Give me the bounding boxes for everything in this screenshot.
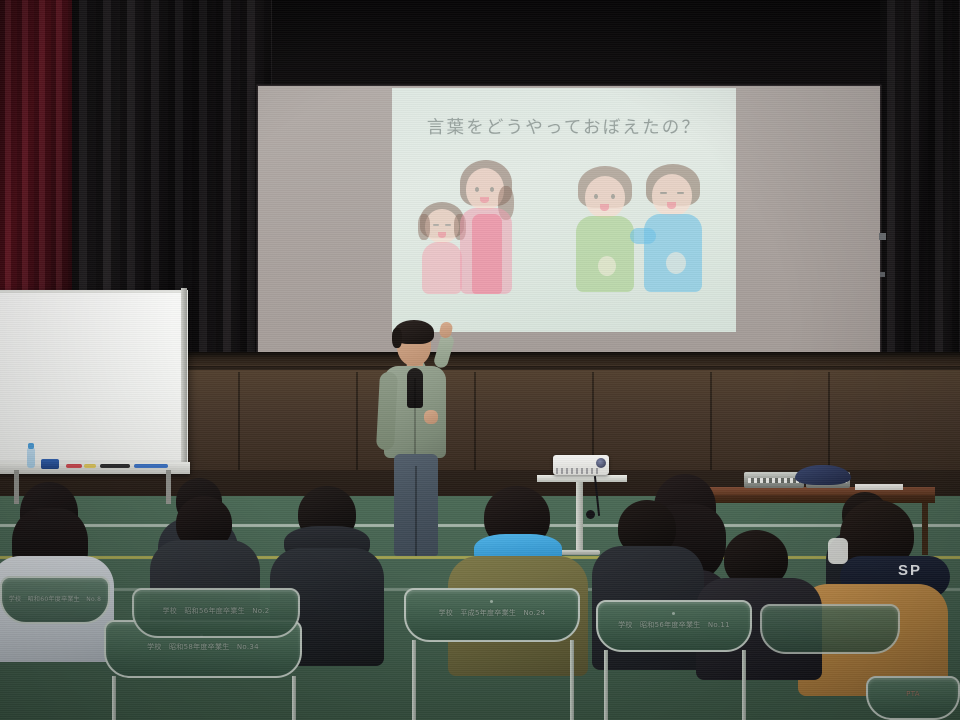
chair[interactable]: 学校 昭和56年度卒業生 No.11 <box>596 600 752 652</box>
audience-adult-tan-sweater: SP <box>806 500 956 696</box>
slide-figure-boy-green <box>574 166 636 292</box>
slide-title-text: 言葉をどうやっておぼえたの？ <box>392 114 736 139</box>
chair[interactable] <box>760 604 900 654</box>
projected-slide: 言葉をどうやっておぼえたの？ <box>392 88 736 332</box>
projector-lens <box>596 458 606 468</box>
blue-bag-on-table <box>795 465 851 485</box>
chair-rivet <box>672 612 675 615</box>
slide-illustration <box>392 150 736 300</box>
face-mask <box>828 538 848 564</box>
audio-mixer-controls-1 <box>748 478 800 483</box>
boy-green-eye-right <box>611 194 615 199</box>
mother-eye-right <box>490 187 494 192</box>
whiteboard <box>0 290 188 468</box>
presenter-hair-side <box>392 328 402 348</box>
chair-label: 学校 平成5年度卒業生 No.24 <box>404 608 580 618</box>
boy-blue-arm <box>630 228 656 244</box>
hoodie-lettering: SP <box>898 562 922 579</box>
boy-blue-head <box>652 174 692 216</box>
boy-green-eye-left <box>594 194 598 199</box>
boy-green-head <box>585 176 625 218</box>
mother-apron <box>472 214 502 294</box>
marker-red <box>66 464 82 468</box>
black-stage-curtain-right <box>880 0 960 400</box>
whiteboard-eraser <box>41 459 59 469</box>
girl-mouth <box>438 232 446 238</box>
audience-student-olive-hoodie <box>452 486 584 676</box>
boy-blue-eye-left <box>660 192 667 194</box>
chair[interactable]: PTA <box>866 676 960 720</box>
boy-blue-mouth <box>667 202 676 209</box>
marker-yellow <box>84 464 96 468</box>
chair-label: PTA <box>866 690 960 698</box>
girl-eye-right <box>445 224 451 226</box>
water-bottle <box>27 448 35 468</box>
boy-blue-eye-right <box>677 192 684 194</box>
mother-mouth <box>480 197 489 203</box>
water-bottle-cap <box>28 443 34 449</box>
chair-leg <box>112 676 116 720</box>
presenter-hand-left <box>424 410 438 424</box>
girl-eye-left <box>433 224 439 226</box>
chair[interactable]: 学校 昭和60年度卒業生 No.8 <box>0 576 110 624</box>
girl-hair-left <box>418 214 430 240</box>
chair-leg <box>570 640 574 720</box>
above-screen-band <box>250 0 890 86</box>
marker-black <box>100 464 130 468</box>
screen-bracket-lower <box>880 272 885 277</box>
boy-blue-hand <box>666 252 686 274</box>
chair-rivet <box>490 600 493 603</box>
chair[interactable]: 学校 平成5年度卒業生 No.24 <box>404 588 580 642</box>
presenter-forearm-right <box>433 333 456 370</box>
presenter-cardigan-placket <box>414 378 416 456</box>
projector-shelf <box>537 475 627 482</box>
boy-green-body <box>576 216 634 292</box>
chair-label: 学校 昭和60年度卒業生 No.8 <box>0 594 110 603</box>
screen-bracket-upper <box>879 233 886 240</box>
slide-figure-mother <box>454 160 518 294</box>
photo-scene: 言葉をどうやっておぼえたの？ <box>0 0 960 720</box>
papers-on-table <box>855 484 903 490</box>
whiteboard-frame-right <box>181 288 187 472</box>
chair-leg <box>292 676 296 720</box>
chair-leg <box>604 650 608 720</box>
chair-backrest[interactable] <box>866 676 960 720</box>
chair[interactable]: 学校 昭和56年度卒業生 No.2 <box>132 588 300 638</box>
boy-green-hand <box>598 256 616 276</box>
chair-leg <box>742 650 746 720</box>
mother-eye-left <box>475 187 479 192</box>
projection-screen: 言葉をどうやっておぼえたの？ <box>258 86 880 352</box>
marker-blue <box>134 464 168 468</box>
chair-leg <box>412 640 416 720</box>
slide-figure-boy-blue <box>640 164 706 292</box>
chair-backrest[interactable] <box>760 604 900 654</box>
projector-control-panel <box>556 468 600 474</box>
chair-label: 学校 昭和56年度卒業生 No.2 <box>132 606 300 616</box>
chair-label: 学校 昭和56年度卒業生 No.11 <box>596 620 752 630</box>
boy-green-mouth <box>600 204 609 211</box>
presenter-trouser-seam <box>415 466 417 556</box>
chair-label: 学校 昭和58年度卒業生 No.34 <box>104 642 302 652</box>
audience-student-grey-coat <box>0 482 114 662</box>
